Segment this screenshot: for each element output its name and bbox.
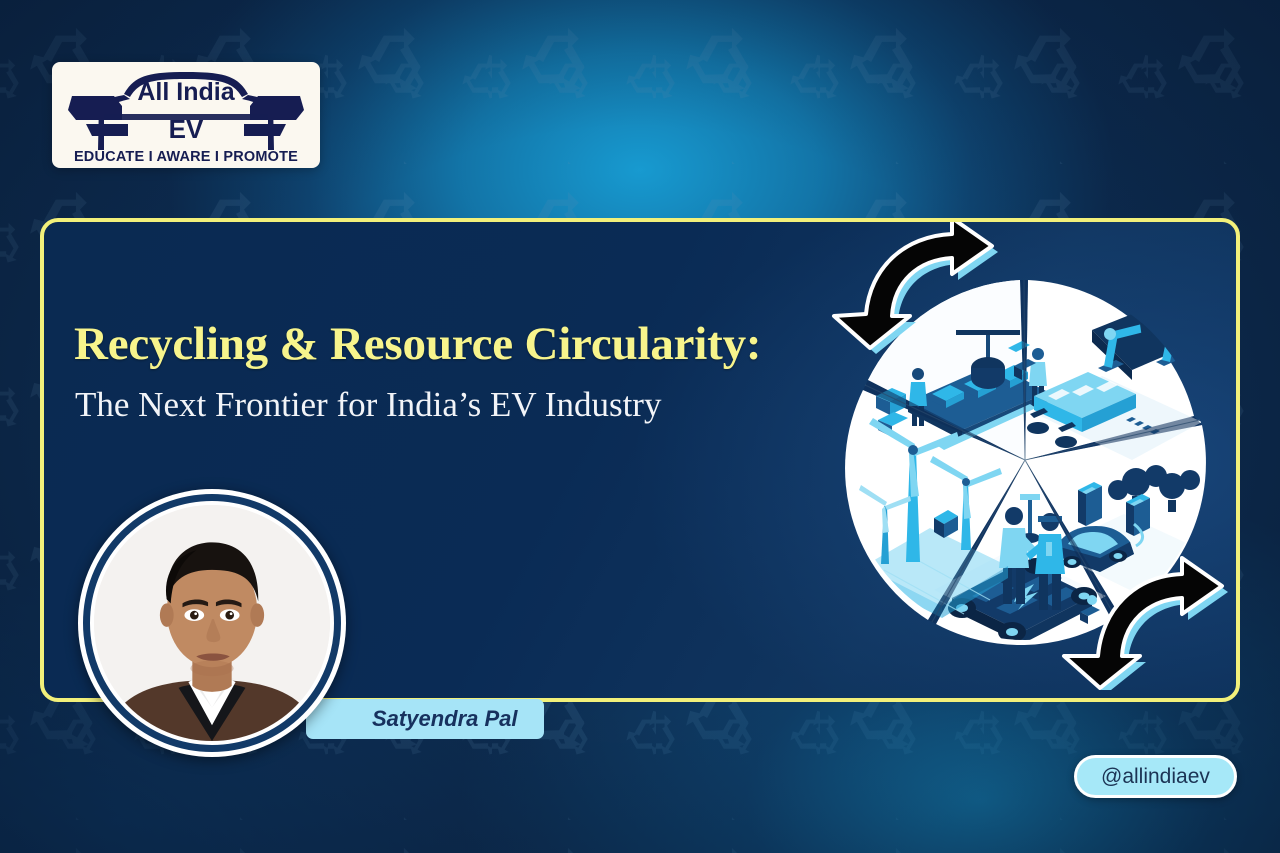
social-handle-text: @allindiaev bbox=[1101, 765, 1210, 789]
author-name: Satyendra Pal bbox=[372, 706, 518, 732]
avatar-ring bbox=[83, 494, 341, 752]
main-content-card: Recycling & Resource Circularity: The Ne… bbox=[40, 218, 1240, 702]
logo-line2: EV bbox=[169, 114, 204, 144]
charging-station bbox=[1078, 482, 1102, 526]
ev-circular-economy-illustration bbox=[820, 222, 1236, 690]
logo-line1: All India bbox=[137, 78, 235, 106]
social-handle-pill[interactable]: @allindiaev bbox=[1074, 755, 1237, 798]
author-avatar bbox=[78, 489, 346, 757]
page-subtitle: The Next Frontier for India’s EV Industr… bbox=[75, 385, 661, 425]
author-name-badge: Satyendra Pal bbox=[306, 699, 544, 739]
logo-tagline: EDUCATE I AWARE I PROMOTE bbox=[74, 149, 298, 165]
brand-logo[interactable]: All India EV EDUCATE I AWARE I PROMOTE bbox=[52, 62, 320, 168]
avatar-photo bbox=[94, 505, 330, 741]
page-title: Recycling & Resource Circularity: bbox=[74, 317, 761, 371]
car-front-outline-icon: All India EV EDUCATE I AWARE I PROMOTE bbox=[52, 62, 320, 168]
